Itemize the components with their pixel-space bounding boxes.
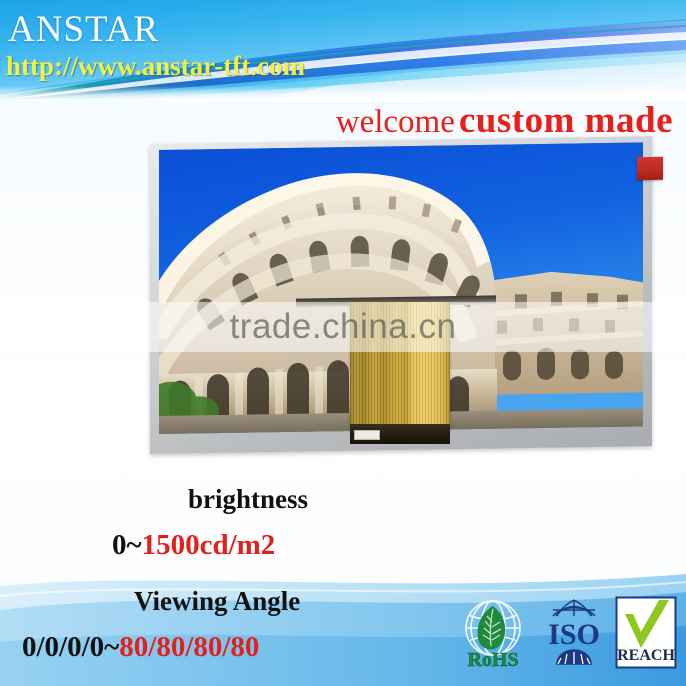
svg-text:RoHS: RoHS <box>467 649 518 671</box>
fpc-connector <box>350 424 450 444</box>
brightness-value-prefix: 0~ <box>112 529 142 561</box>
rohs-leaf-icon: RoHS <box>457 596 529 672</box>
rohs-badge: RoHS <box>457 596 529 672</box>
brand-logo: ANSTAR <box>8 11 159 48</box>
red-tab-sticker <box>637 157 663 180</box>
viewing-angle-value: 0/0/0/0~80/80/80/80 <box>22 631 259 664</box>
header-banner: ANSTAR http://www.anstar-tft.com <box>0 0 686 101</box>
reach-checkmark-icon: REACH <box>615 596 677 670</box>
brightness-label: brightness <box>188 484 308 515</box>
viewing-angle-label: Viewing Angle <box>134 586 300 617</box>
iso-globe-icon: ISO <box>543 596 605 672</box>
company-website-url[interactable]: http://www.anstar-tft.com <box>6 52 305 80</box>
svg-text:REACH: REACH <box>617 647 675 664</box>
headline-custom-made: custom made <box>459 100 673 141</box>
svg-text:ISO: ISO <box>548 618 600 651</box>
brightness-value: 0~1500cd/m2 <box>112 529 275 562</box>
product-image-canvas: ANSTAR http://www.anstar-tft.com welcome… <box>0 0 686 686</box>
fpc-connector-label <box>354 430 380 440</box>
iso-badge: ISO <box>543 596 605 672</box>
watermark-text: trade.china.cn <box>0 302 686 352</box>
reach-badge: REACH <box>615 596 677 670</box>
viewing-angle-value-highlight: 80/80/80/80 <box>119 631 259 663</box>
viewing-angle-value-prefix: 0/0/0/0~ <box>22 631 119 663</box>
headline-welcome: welcome <box>336 104 455 140</box>
certification-badges: RoHS ISO <box>455 596 681 680</box>
brightness-value-highlight: 1500cd/m2 <box>142 529 276 561</box>
